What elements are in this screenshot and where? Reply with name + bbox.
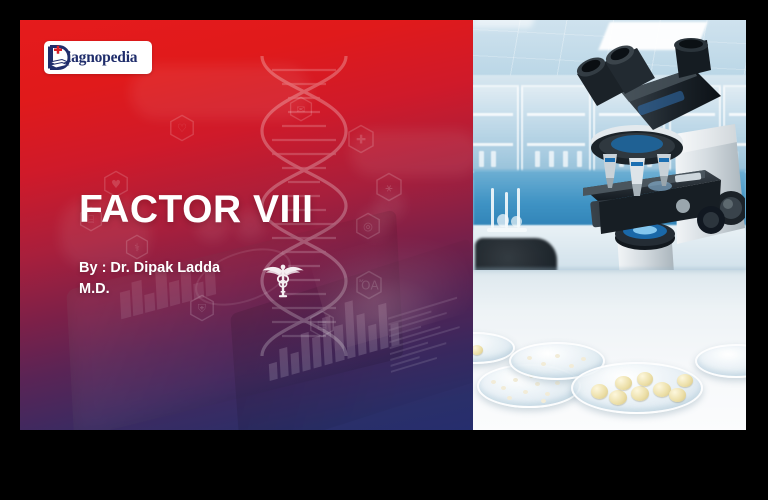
svg-text:⚕: ⚕ [134, 242, 140, 254]
svg-text:◎: ◎ [363, 220, 373, 233]
slide-left-panel: ✉♡✚♥⚹⌸◎⚕ὌA⛨▤ [20, 20, 473, 430]
svg-text:▤: ▤ [317, 318, 328, 331]
svg-text:⚹: ⚹ [385, 181, 392, 195]
light-blob [350, 130, 473, 176]
slide-right-panel [473, 20, 746, 430]
logo-badge[interactable]: iagnopedia [44, 41, 152, 74]
patient-icon: ⚹ [374, 172, 404, 207]
author-byline: By : Dr. Dipak Ladda M.D. [79, 258, 249, 300]
chart-icon: ὌA [354, 270, 384, 305]
light-blob [360, 208, 390, 238]
light-blob [130, 65, 310, 119]
diagnopedia-logo-mark [47, 45, 70, 71]
svg-text:♡: ♡ [177, 122, 187, 135]
svg-text:✚: ✚ [356, 133, 366, 147]
target-icon: ◎ [354, 212, 382, 245]
petri-dish [571, 362, 703, 414]
bench-edge [473, 268, 746, 274]
screenshot-canvas: ✉♡✚♥⚹⌸◎⚕ὌA⛨▤ [0, 0, 768, 500]
cross-icon: ✚ [346, 124, 376, 159]
slide-title: FACTOR VIII [79, 190, 313, 231]
svg-text:✉: ✉ [297, 104, 306, 116]
mail-icon: ✉ [288, 96, 314, 127]
logo-wordmark: iagnopedia [67, 50, 137, 66]
presentation-slide: ✉♡✚♥⚹⌸◎⚕ὌA⛨▤ [20, 20, 746, 430]
svg-text:⛨: ⛨ [198, 302, 207, 315]
id-card-icon: ▤ [308, 310, 336, 343]
caduceus-icon [261, 260, 305, 300]
byline-row: By : Dr. Dipak Ladda M.D. [79, 258, 305, 300]
heart-plus-icon: ♡ [168, 114, 196, 147]
light-blob [375, 190, 405, 220]
svg-text:ὌA: ὌA [359, 279, 379, 293]
